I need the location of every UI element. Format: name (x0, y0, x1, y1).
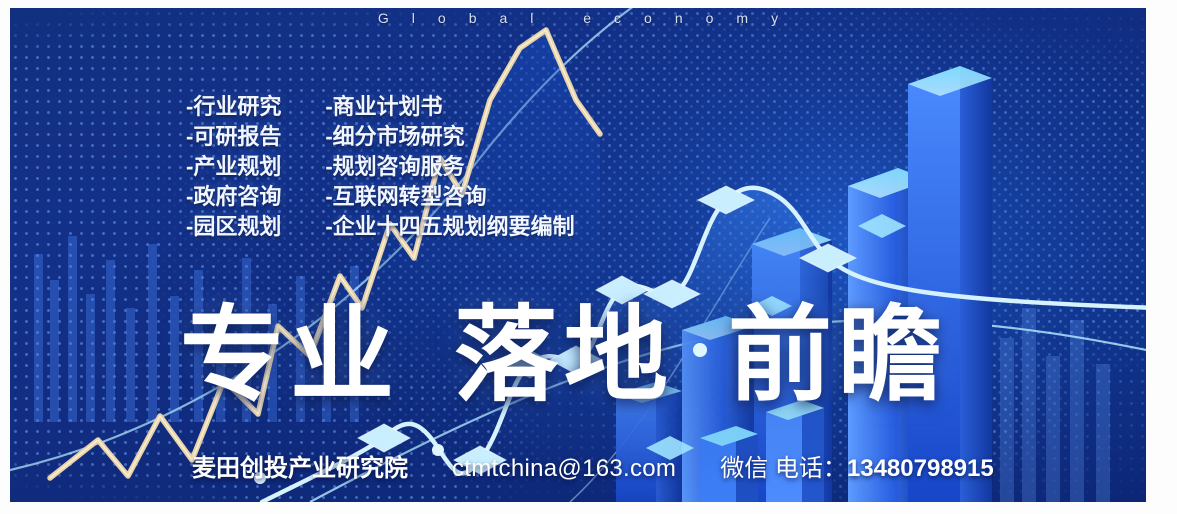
list-item: -企业十四五规划纲要编制 (325, 212, 574, 242)
list-item: -细分市场研究 (325, 122, 574, 152)
email-address[interactable]: ctmtchina@163.com (452, 455, 676, 483)
list-item: -产业规划 (186, 152, 281, 182)
services-left-column: -行业研究 -可研报告 -产业规划 -政府咨询 -园区规划 (186, 92, 281, 242)
banner-stage: Global economy -行业研究 -可研报告 -产业规划 -政府咨询 -… (0, 0, 1177, 514)
list-item: -互联网转型咨询 (325, 182, 574, 212)
headline: 专业 落地 前瞻 (180, 304, 948, 408)
phone-number: 13480798915 (847, 455, 994, 482)
chart-artwork (10, 8, 1146, 502)
kicker-global-economy: Global economy (10, 10, 1146, 36)
headline-word-2: 落地 (454, 304, 674, 408)
list-item: -商业计划书 (325, 92, 574, 122)
list-item: -可研报告 (186, 122, 281, 152)
banner-plate: Global economy -行业研究 -可研报告 -产业规划 -政府咨询 -… (10, 8, 1146, 502)
company-name: 麦田创投产业研究院 (192, 448, 408, 483)
services-right-column: -商业计划书 -细分市场研究 -规划咨询服务 -互联网转型咨询 -企业十四五规划… (325, 92, 574, 242)
footer-contact-row: 麦田创投产业研究院 ctmtchina@163.com 微信 电话：134807… (192, 448, 994, 483)
headline-word-3: 前瞻 (728, 304, 948, 408)
headline-word-1: 专业 (180, 304, 400, 408)
list-item: -行业研究 (186, 92, 281, 122)
contact-phone: 微信 电话：13480798915 (720, 448, 994, 483)
list-item: -政府咨询 (186, 182, 281, 212)
contact-label: 微信 电话： (720, 455, 847, 482)
list-item: -园区规划 (186, 212, 281, 242)
services-lists: -行业研究 -可研报告 -产业规划 -政府咨询 -园区规划 -商业计划书 -细分… (186, 92, 575, 242)
list-item: -规划咨询服务 (325, 152, 574, 182)
